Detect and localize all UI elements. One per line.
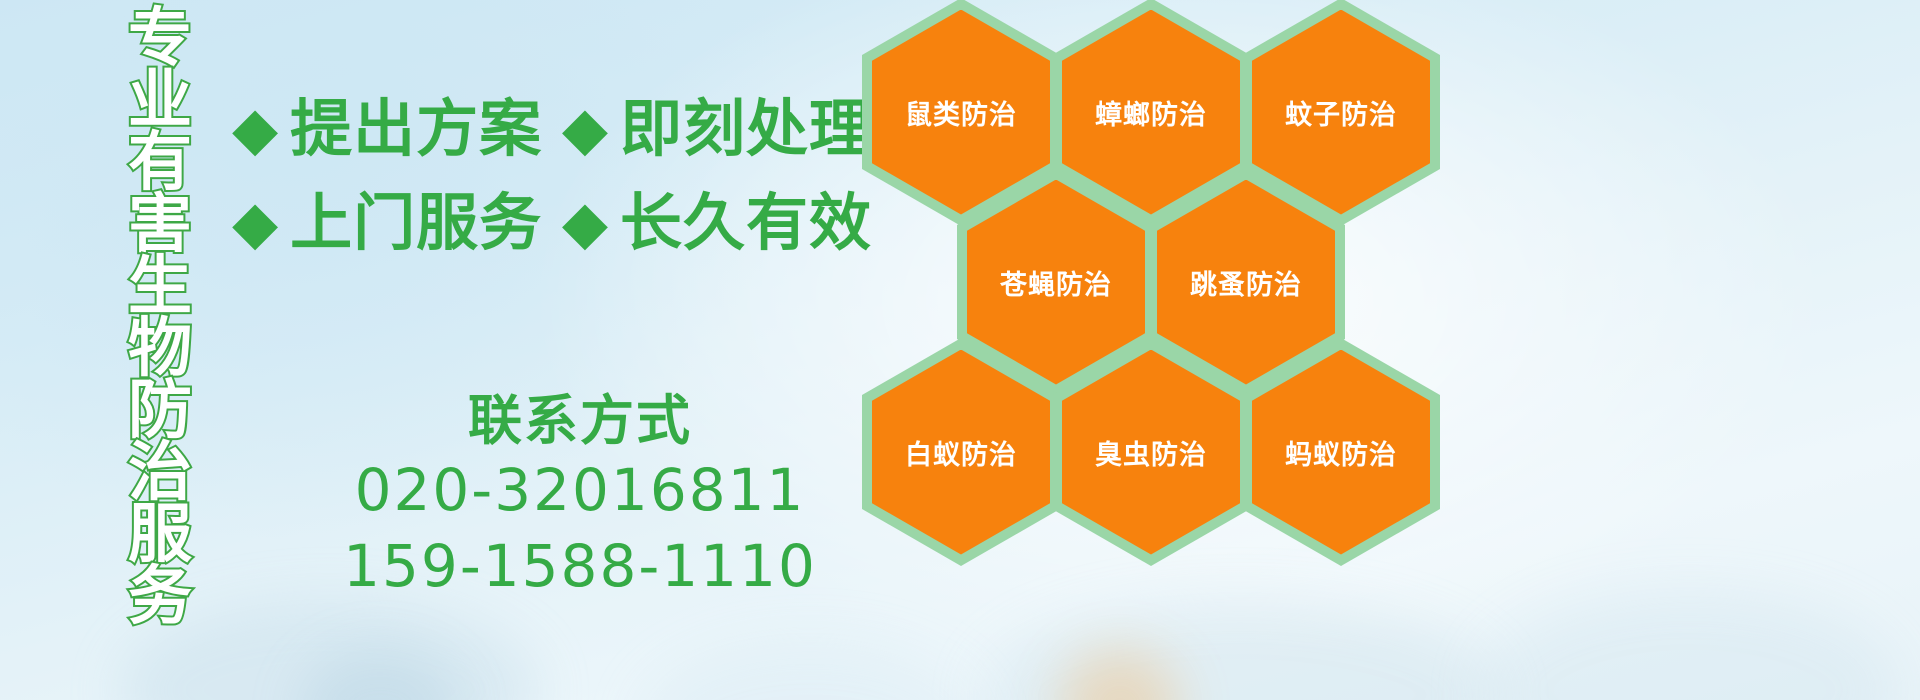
vertical-slogan: 专 业 有 害 生 物 防 治 服 务: [105, 8, 215, 568]
diamond-bullet-icon: ◆: [232, 193, 278, 253]
hexagon-inner: 苍蝇防治: [967, 180, 1145, 385]
contact-title: 联系方式: [300, 390, 860, 452]
feature-list: ◆ 提出方案 ◆ 即刻处理 ◆ 上门服务 ◆ 长久有效: [232, 82, 872, 270]
background-blob: [1060, 650, 1180, 700]
slogan-character: 生: [128, 256, 192, 318]
hexagon-inner: 跳蚤防治: [1157, 180, 1335, 385]
feature-label: 提出方案: [290, 97, 542, 161]
service-label: 白蚁防治: [905, 433, 1017, 472]
hexagon-inner: 蟑螂防治: [1062, 10, 1240, 215]
feature-item: ◆ 上门服务: [232, 191, 542, 255]
background-blob: [300, 650, 460, 700]
slogan-character: 专: [128, 8, 192, 70]
service-label: 臭虫防治: [1095, 433, 1207, 472]
diamond-bullet-icon: ◆: [232, 99, 278, 159]
feature-item: ◆ 即刻处理: [562, 97, 872, 161]
feature-item: ◆ 长久有效: [562, 191, 872, 255]
feature-label: 长久有效: [620, 191, 872, 255]
service-label: 蟑螂防治: [1095, 93, 1207, 132]
hexagon-inner: 蚊子防治: [1252, 10, 1430, 215]
feature-item: ◆ 提出方案: [232, 97, 542, 161]
phone-number-landline[interactable]: 020-32016811: [300, 452, 860, 528]
background-blob: [640, 640, 980, 700]
service-label: 鼠类防治: [905, 93, 1017, 132]
slogan-character: 防: [128, 380, 192, 442]
slogan-character: 物: [128, 318, 192, 380]
background-blob: [1480, 590, 1900, 700]
background-blob: [980, 600, 1500, 700]
feature-label: 即刻处理: [620, 97, 872, 161]
phone-number-mobile[interactable]: 159-1588-1110: [300, 528, 860, 604]
hexagon-inner: 臭虫防治: [1062, 350, 1240, 555]
service-label: 蚊子防治: [1285, 93, 1397, 132]
slogan-character: 治: [128, 442, 192, 504]
slogan-character: 害: [128, 194, 192, 256]
service-label: 苍蝇防治: [1000, 263, 1112, 302]
slogan-character: 服: [128, 504, 192, 566]
hexagon-inner: 蚂蚁防治: [1252, 350, 1430, 555]
hexagon-inner: 鼠类防治: [872, 10, 1050, 215]
service-hexagon-grid: 鼠类防治 蟑螂防治 蚊子防治 苍蝇防治 跳蚤防治 白蚁防治: [862, 0, 1462, 538]
diamond-bullet-icon: ◆: [562, 99, 608, 159]
slogan-character: 业: [128, 70, 192, 132]
contact-block: 联系方式 020-32016811 159-1588-1110: [300, 390, 860, 604]
feature-row: ◆ 提出方案 ◆ 即刻处理: [232, 82, 872, 176]
slogan-character: 务: [128, 566, 192, 628]
hexagon-inner: 白蚁防治: [872, 350, 1050, 555]
slogan-character: 有: [128, 132, 192, 194]
service-label: 跳蚤防治: [1190, 263, 1302, 302]
feature-row: ◆ 上门服务 ◆ 长久有效: [232, 176, 872, 270]
diamond-bullet-icon: ◆: [562, 193, 608, 253]
feature-label: 上门服务: [290, 191, 542, 255]
promo-banner: 专 业 有 害 生 物 防 治 服 务 ◆ 提出方案 ◆ 即刻处理 ◆ 上门服务: [0, 0, 1920, 700]
service-label: 蚂蚁防治: [1285, 433, 1397, 472]
